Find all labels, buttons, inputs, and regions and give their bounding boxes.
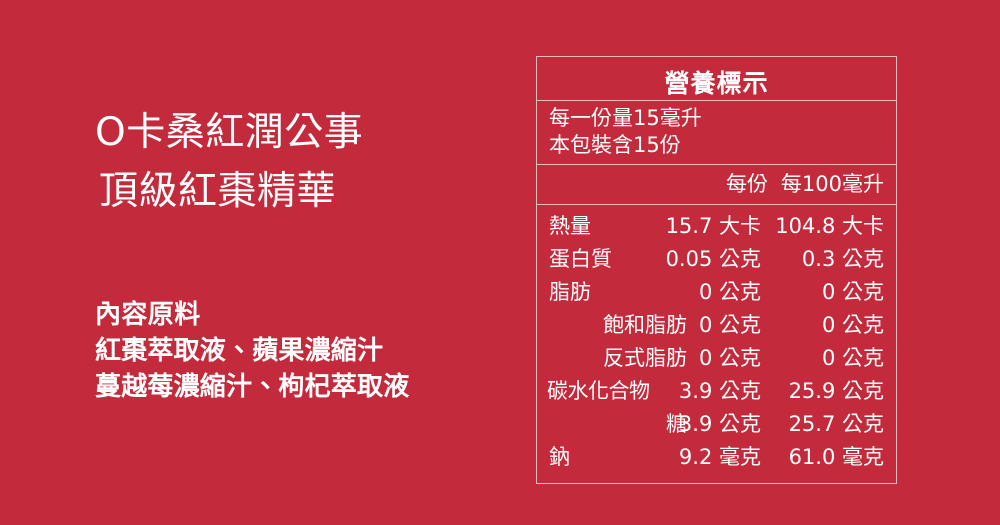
nutrition-row-value-per-serving: 3.9 公克 xyxy=(679,410,761,439)
nutrition-row-label: 鈉 xyxy=(549,443,687,472)
nutrition-row: 碳水化合物3.9 公克25.9 公克 xyxy=(537,375,896,408)
nutrition-row-value-per-serving: 9.2 毫克 xyxy=(679,443,761,472)
serving-info-section: 每一份量15毫升 本包裝含15份 xyxy=(537,101,896,165)
nutrition-row-value-per-100ml: 25.9 公克 xyxy=(789,377,884,406)
nutrition-row: 脂肪0 公克0 公克 xyxy=(537,276,896,309)
nutrition-row-value-per-100ml: 0 公克 xyxy=(822,344,884,373)
ingredients-line-1: 紅棗萃取液、蘋果濃縮汁 xyxy=(95,333,525,369)
nutrition-row-value-per-serving: 0 公克 xyxy=(699,344,761,373)
servings-per-container-text: 本包裝含15份 xyxy=(549,132,896,159)
ingredients-block: 內容原料 紅棗萃取液、蘋果濃縮汁 蔓越莓濃縮汁、枸杞萃取液 xyxy=(95,298,525,405)
nutrition-row-label: 脂肪 xyxy=(549,278,687,307)
ingredients-line-2: 蔓越莓濃縮汁、枸杞萃取液 xyxy=(95,369,525,405)
nutrition-row: 飽和脂肪0 公克0 公克 xyxy=(537,309,896,342)
promo-text-block: O卡桑紅潤公事 頂級紅棗精華 xyxy=(95,103,515,221)
column-header-row: 每份 每100毫升 xyxy=(537,165,896,205)
nutrition-row-label: 碳水化合物 xyxy=(547,377,689,406)
nutrition-row-value-per-serving: 15.7 大卡 xyxy=(666,212,761,241)
product-label-canvas: O卡桑紅潤公事 頂級紅棗精華 內容原料 紅棗萃取液、蘋果濃縮汁 蔓越莓濃縮汁、枸… xyxy=(0,0,1000,525)
product-title-line-2: 頂級紅棗精華 xyxy=(95,162,515,221)
ingredients-heading: 內容原料 xyxy=(95,298,525,333)
serving-size-text: 每一份量15毫升 xyxy=(549,105,896,132)
nutrition-row-value-per-serving: 0 公克 xyxy=(699,278,761,307)
nutrition-row: 蛋白質0.05 公克0.3 公克 xyxy=(537,243,896,276)
nutrition-row-value-per-serving: 3.9 公克 xyxy=(679,377,761,406)
nutrition-row-label: 飽和脂肪 xyxy=(549,311,687,340)
nutrition-row-value-per-100ml: 25.7 公克 xyxy=(789,410,884,439)
nutrition-row: 熱量15.7 大卡104.8 大卡 xyxy=(537,210,896,243)
nutrition-row-value-per-serving: 0 公克 xyxy=(699,311,761,340)
nutrition-row: 反式脂肪0 公克0 公克 xyxy=(537,342,896,375)
nutrition-row-value-per-100ml: 104.8 大卡 xyxy=(775,212,884,241)
nutrition-table-title: 營養標示 xyxy=(537,57,896,101)
nutrition-row-value-per-serving: 0.05 公克 xyxy=(666,245,761,274)
nutrition-row-label: 反式脂肪 xyxy=(549,344,687,373)
nutrition-row-value-per-100ml: 0.3 公克 xyxy=(802,245,884,274)
nutrition-rows-container: 熱量15.7 大卡104.8 大卡蛋白質0.05 公克0.3 公克脂肪0 公克0… xyxy=(537,205,896,483)
product-title-line-1: O卡桑紅潤公事 xyxy=(95,103,515,162)
nutrition-row: 糖3.9 公克25.7 公克 xyxy=(537,408,896,441)
nutrition-row: 鈉9.2 毫克61.0 毫克 xyxy=(537,441,896,474)
column-header-per-serving: 每份 xyxy=(726,171,768,198)
nutrition-facts-table: 營養標示 每一份量15毫升 本包裝含15份 每份 每100毫升 熱量15.7 大… xyxy=(536,56,897,484)
nutrition-row-value-per-100ml: 0 公克 xyxy=(822,278,884,307)
nutrition-row-value-per-100ml: 61.0 毫克 xyxy=(789,443,884,472)
nutrition-row-value-per-100ml: 0 公克 xyxy=(822,311,884,340)
nutrition-row-label: 糖 xyxy=(549,410,687,439)
column-header-per-100ml: 每100毫升 xyxy=(781,171,884,198)
